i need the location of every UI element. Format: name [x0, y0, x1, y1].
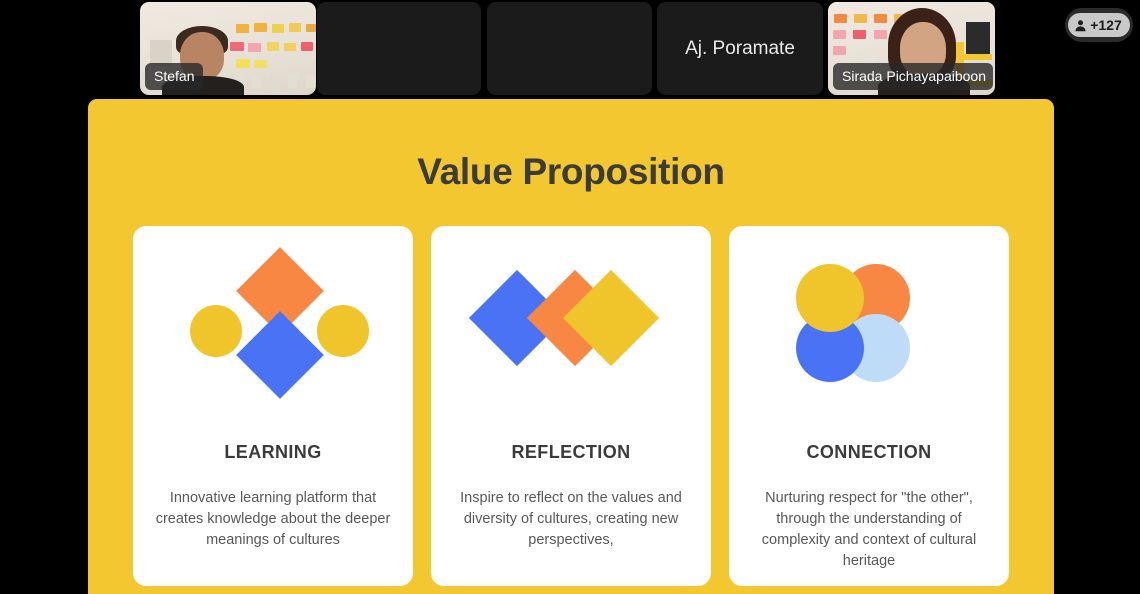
card-connection[interactable]: CONNECTION Nurturing respect for "the ot… — [729, 226, 1009, 586]
tile-name-label: Stefan — [145, 63, 203, 90]
video-tile-aj-poramate[interactable]: Aj. Poramate — [657, 2, 823, 95]
presentation-slide: Value Proposition LEARNING Innovative le… — [88, 99, 1054, 594]
card-description: Nurturing respect for "the other", throu… — [729, 488, 1009, 572]
card-description: Inspire to reflect on the values and div… — [431, 488, 711, 551]
value-proposition-cards: LEARNING Innovative learning platform th… — [88, 226, 1054, 586]
tile-name-label — [487, 2, 652, 95]
card-title: CONNECTION — [807, 442, 932, 463]
video-tile-2[interactable] — [317, 2, 481, 95]
three-diamonds-icon — [471, 252, 671, 402]
tile-name-label: Aj. Poramate — [657, 2, 823, 95]
video-tile-strip: Stefan Aj. Poramate — [0, 0, 1140, 97]
tile-name-label — [317, 2, 481, 95]
tile-name-label: Sirada Pichayapaiboon — [833, 63, 993, 90]
card-title: LEARNING — [224, 442, 321, 463]
page-title: Value Proposition — [88, 151, 1054, 193]
video-tile-sirada[interactable]: Sirada Pichayapaiboon — [828, 2, 995, 95]
card-title: REFLECTION — [512, 442, 631, 463]
video-tile-stefan[interactable]: Stefan — [140, 2, 316, 95]
card-reflection[interactable]: REFLECTION Inspire to reflect on the val… — [431, 226, 711, 586]
card-description: Innovative learning platform that create… — [133, 488, 413, 551]
person-icon — [1074, 19, 1087, 32]
participant-count: +127 — [1090, 18, 1122, 32]
diamonds-circles-icon — [173, 252, 373, 402]
four-circles-icon — [769, 252, 969, 402]
participant-count-badge[interactable]: +127 — [1065, 8, 1133, 42]
video-tile-3[interactable] — [487, 2, 652, 95]
card-learning[interactable]: LEARNING Innovative learning platform th… — [133, 226, 413, 586]
